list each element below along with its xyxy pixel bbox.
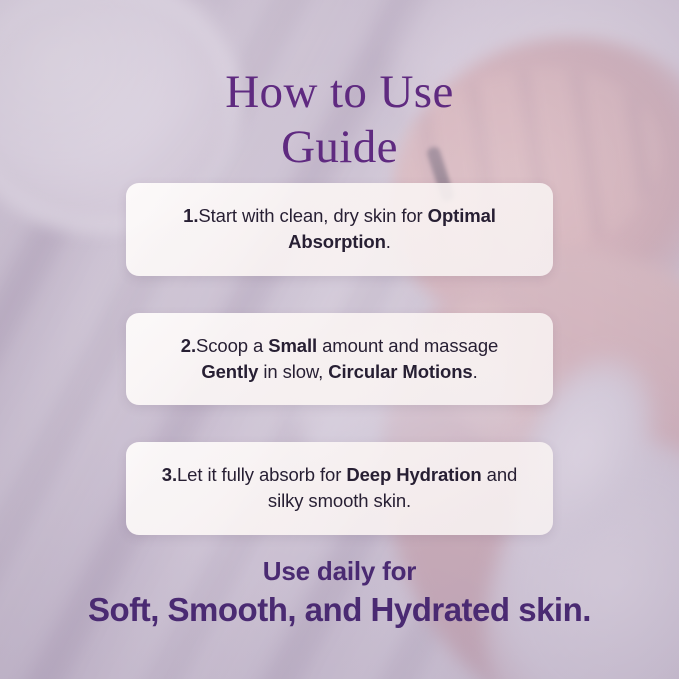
page-title-line-2: Guide	[0, 120, 679, 175]
step-emphasis-2b: Gently	[201, 361, 258, 382]
step-card-1: 1.Start with clean, dry skin for Optimal…	[126, 183, 553, 276]
step-emphasis-2a: Small	[268, 335, 317, 356]
step-number-1: 1.	[183, 205, 198, 226]
steps-list: 1.Start with clean, dry skin for Optimal…	[126, 183, 553, 535]
footer-tagline: Use daily for Soft, Smooth, and Hydrated…	[0, 556, 679, 629]
step-card-3: 3.Let it fully absorb for Deep Hydration…	[126, 442, 553, 535]
how-to-use-poster: How to Use Guide 1.Start with clean, dry…	[0, 0, 679, 679]
step-number-3: 3.	[162, 464, 177, 485]
step-text-1-after: .	[386, 231, 391, 252]
step-card-2: 2.Scoop a Small amount and massage Gentl…	[126, 313, 553, 406]
step-text-3-before: Let it fully absorb for	[177, 464, 346, 485]
footer-small-text: Use daily for	[0, 556, 679, 587]
step-emphasis-3: Deep Hydration	[346, 464, 481, 485]
step-emphasis-2c: Circular Motions	[328, 361, 472, 382]
page-title-line-1: How to Use	[0, 65, 679, 120]
step-text-2-before: Scoop a	[196, 335, 268, 356]
step-number-2: 2.	[181, 335, 196, 356]
step-text-2-mid: amount and massage	[317, 335, 498, 356]
step-text-2-mid2: in slow,	[258, 361, 328, 382]
step-text-1-before: Start with clean, dry skin for	[198, 205, 427, 226]
step-text-2-after: .	[473, 361, 478, 382]
footer-big-text: Soft, Smooth, and Hydrated skin.	[0, 590, 679, 630]
poster-content: How to Use Guide 1.Start with clean, dry…	[0, 0, 679, 679]
page-title: How to Use Guide	[0, 65, 679, 174]
